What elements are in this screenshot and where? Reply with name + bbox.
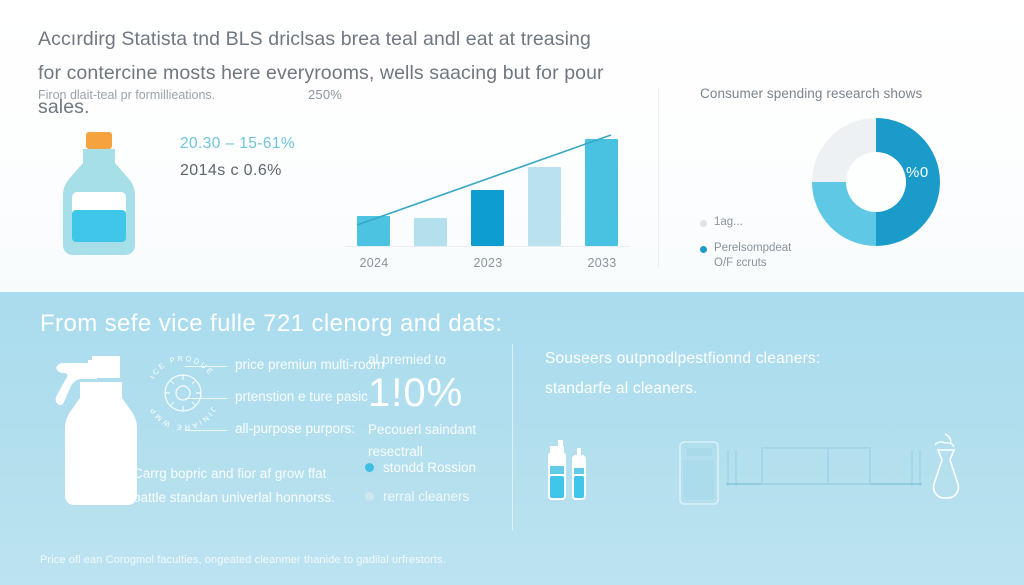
stat-big-value: 1!0% (368, 369, 518, 417)
top-vertical-divider (658, 88, 659, 268)
washing-machine-icon (680, 442, 718, 504)
bar (414, 218, 447, 246)
legend-label: rerral cleaners (383, 489, 469, 504)
body-line-2: battle standan univerlal honnorss. (133, 490, 335, 505)
headline: Accırdirg Statista tnd BLS driclsas brea… (38, 22, 638, 124)
pump-bottle-icon (548, 440, 566, 500)
legend-item: rerral cleaners (365, 489, 525, 504)
infographic-poster: Accırdirg Statista tnd BLS driclsas brea… (0, 0, 1024, 585)
plant-vase-icon (934, 434, 959, 498)
leader-label: all-purpose purpors: (235, 421, 355, 436)
cleaner-bottle-icon (36, 128, 158, 260)
bottom-panel-title: From sefe vice fulle 721 clenorg and dat… (40, 310, 502, 338)
bottom-legend: stondd Rossion rerral cleaners (365, 460, 525, 518)
headline-line-1: Accırdirg Statista tnd BLS driclsas brea… (38, 28, 591, 50)
small-bottle-icon (572, 448, 586, 500)
percent-250-label: 250% (308, 87, 342, 102)
leader-connector (185, 398, 227, 399)
legend-item: 1ag... (700, 215, 840, 230)
bar-chart: 202420232033 (345, 112, 630, 272)
leader-row: prtenstion e ture pasic (185, 386, 365, 418)
legend-dot-icon (365, 492, 374, 501)
legend-dot-icon (700, 220, 707, 227)
bar-chart-xtick: 2024 (359, 256, 388, 270)
leader-connector (185, 366, 227, 367)
bottom-panel: From sefe vice fulle 721 clenorg and dat… (0, 292, 1024, 585)
stat-teal-range: 20.30 – 15-61% (180, 135, 295, 153)
bar (357, 216, 390, 246)
legend-label: Perelsompdeat O/F ɛcruts (714, 241, 791, 271)
bar (585, 139, 618, 246)
bar (528, 167, 561, 246)
right-line-2: standarfe al cleaners. (545, 380, 698, 397)
right-line-1: Souseers outpnodlpestfionnd cleaners: (545, 350, 820, 367)
leader-label: prtenstion e ture pasic (235, 389, 368, 404)
leader-line-list: price premiun multi-roomprtenstion e tur… (185, 354, 365, 450)
legend-dot-icon (700, 246, 707, 253)
donut-chart-hole (846, 152, 906, 212)
stat-sub-line-1: Pecouerl saindant (368, 422, 476, 437)
bar (471, 190, 504, 246)
leader-row: all-purpose purpors: (185, 418, 365, 450)
sofa-icon (726, 448, 922, 486)
footer-note: Price ofl ean Corogmol faculties, ongeat… (40, 554, 740, 566)
stat-column: al premied to 1!0% Pecouerl saindant res… (368, 352, 518, 463)
household-icons (540, 432, 1010, 542)
leader-connector (185, 430, 227, 431)
donut-chart-title: Consumer spending research shows (700, 86, 950, 101)
stat-sub-line-2: resectrall (368, 444, 423, 459)
bottom-vertical-divider (512, 344, 513, 530)
legend-item: stondd Rossion (365, 460, 525, 475)
stat-kicker: al premied to (368, 352, 518, 367)
body-line-1: Carrg bopric and fior af grow ffat (133, 466, 326, 481)
bar-chart-axis (345, 246, 630, 247)
stat-dark-value: 2014s c 0.6% (180, 162, 282, 180)
bottom-body-copy: Carrg bopric and fior af grow ffat battl… (133, 462, 373, 510)
top-panel: Accırdirg Statista tnd BLS driclsas brea… (0, 0, 1024, 292)
bar-chart-xtick: 2023 (473, 256, 502, 270)
right-copy: Souseers outpnodlpestfionnd cleaners: st… (545, 344, 945, 404)
sub-note: Firon dlait-teal pr formillieations. (38, 86, 278, 104)
legend-item: Perelsompdeat O/F ɛcruts (700, 241, 840, 271)
leader-row: price premiun multi-room (185, 354, 365, 386)
bar-chart-bars (345, 128, 630, 246)
legend-label: 1ag... (714, 215, 743, 230)
legend-label: stondd Rossion (383, 460, 476, 475)
bar-chart-xtick: 2033 (587, 256, 616, 270)
stat-sub: Pecouerl saindant resectrall (368, 419, 518, 463)
donut-legend: 1ag... Perelsompdeat O/F ɛcruts (700, 215, 840, 282)
leader-label: price premiun multi-room (235, 357, 384, 372)
donut-center-percent: %0 (906, 164, 929, 181)
legend-dot-icon (365, 463, 374, 472)
